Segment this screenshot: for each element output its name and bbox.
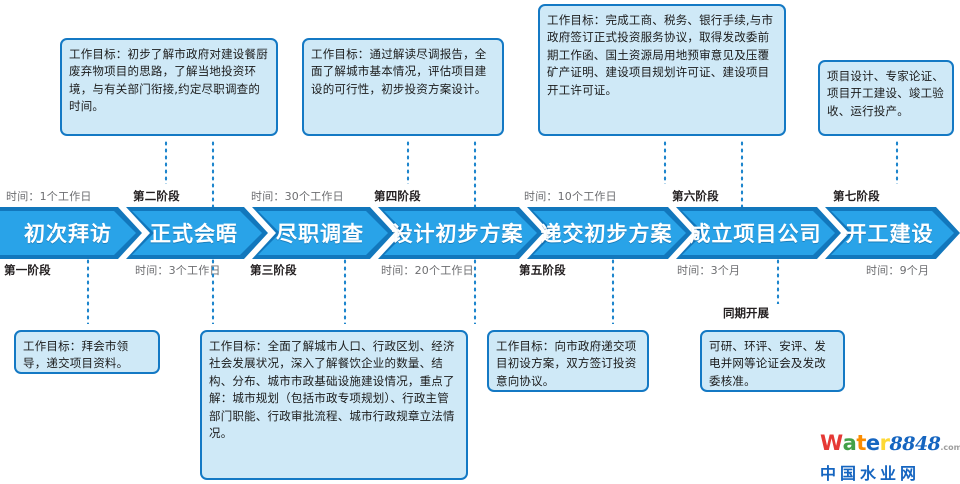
stage-label-stage-1: 第一阶段	[4, 262, 51, 278]
connector-dots-top-3	[406, 140, 410, 184]
connector-dots-bottom-2	[211, 258, 215, 324]
stage-name-6: 成立项目公司	[690, 218, 822, 248]
stage-name-2: 正式会晤	[150, 218, 238, 248]
logo-tld: .com	[940, 443, 960, 452]
stage-name-3: 尽职调查	[276, 218, 364, 248]
stage-chevron-7[interactable]: 开工建设	[825, 207, 960, 259]
callout-top-2: 工作目标：通过解读尽调报告，全面了解城市基本情况，评估项目建设的可行性，初步投资…	[302, 38, 504, 136]
time-label-stage-5: 时间：10个工作日	[524, 188, 617, 204]
connector-dots-bottom-1	[86, 258, 90, 324]
note-concurrent: 同期开展	[723, 305, 769, 321]
logo-number: 8848	[890, 433, 941, 455]
time-label-stage-3: 时间：30个工作日	[251, 188, 344, 204]
callout-top-4: 项目设计、专家论证、项目开工建设、竣工验收、运行投产。	[818, 60, 954, 136]
stage-label-stage-7: 第七阶段	[833, 188, 880, 204]
stage-chevron-1[interactable]: 初次拜访	[0, 207, 142, 259]
time-label-stage-7: 时间：9个月	[866, 262, 929, 278]
stage-label-stage-2: 第二阶段	[133, 188, 180, 204]
stage-chevron-4[interactable]: 设计初步方案	[378, 207, 543, 259]
stage-name-4: 设计初步方案	[392, 218, 524, 248]
stage-name-7: 开工建设	[846, 218, 934, 248]
stage-chevron-5[interactable]: 递交初步方案	[527, 207, 692, 259]
callout-bottom-2: 工作目标：全面了解城市人口、行政区划、经济社会发展状况，深入了解餐饮企业的数量、…	[200, 330, 468, 480]
stage-name-1: 初次拜访	[24, 218, 112, 248]
callout-bottom-1: 工作目标：拜会市领导，递交项目资料。	[14, 330, 160, 374]
stage-label-stage-3: 第三阶段	[250, 262, 297, 278]
connector-dots-bottom-6	[776, 258, 780, 304]
connector-dots-bottom-4	[473, 258, 477, 324]
stage-label-stage-5: 第五阶段	[519, 262, 566, 278]
connector-dots-top-4	[473, 140, 477, 210]
logo-subtitle: 中国水业网	[820, 460, 952, 484]
connector-dots-top-2	[211, 140, 215, 210]
connector-dots-bottom-5	[611, 258, 615, 324]
connector-dots-bottom-3	[343, 258, 347, 324]
flowchart-canvas: 工作目标：初步了解市政府对建设餐厨废弃物项目的思路，了解当地投资环境，与有关部门…	[0, 0, 960, 484]
callout-top-1: 工作目标：初步了解市政府对建设餐厨废弃物项目的思路，了解当地投资环境，与有关部门…	[60, 38, 278, 136]
logo-letter-t: t	[856, 432, 866, 454]
stage-chevron-band: 初次拜访 正式会晤 尽职调查 设计初步方案	[0, 207, 960, 259]
stage-chevron-2[interactable]: 正式会晤	[126, 207, 268, 259]
stage-name-5: 递交初步方案	[541, 218, 673, 248]
time-label-stage-4: 时间：20个工作日	[381, 262, 474, 278]
stage-label-stage-6: 第六阶段	[672, 188, 719, 204]
logo-letter-w: W	[820, 432, 843, 454]
callout-bottom-4: 可研、环评、安评、发电并网等论证会及发改委核准。	[700, 330, 845, 392]
site-logo: Water8848.com 中国水业网	[820, 432, 952, 478]
logo-letter-r: r	[880, 432, 890, 454]
time-label-stage-1: 时间：1个工作日	[6, 188, 92, 204]
connector-dots-top-5	[663, 140, 667, 184]
stage-chevron-6[interactable]: 成立项目公司	[676, 207, 841, 259]
connector-dots-top-1	[164, 140, 168, 184]
stage-label-stage-4: 第四阶段	[374, 188, 421, 204]
logo-letter-a: a	[843, 432, 857, 454]
time-label-stage-6: 时间：3个月	[677, 262, 740, 278]
time-label-stage-2: 时间：3个工作日	[135, 262, 221, 278]
connector-dots-top-7	[895, 140, 899, 184]
callout-top-3: 工作目标：完成工商、税务、银行手续,与市政府签订正式投资服务协议，取得发改委前期…	[538, 4, 786, 136]
callout-bottom-3: 工作目标：向市政府递交项目初设方案，双方签订投资意向协议。	[487, 330, 649, 392]
logo-letter-e: e	[866, 432, 880, 454]
logo-wordmark: Water8848.com	[820, 432, 952, 459]
stage-chevron-3[interactable]: 尽职调查	[252, 207, 394, 259]
connector-dots-top-6	[740, 140, 744, 210]
